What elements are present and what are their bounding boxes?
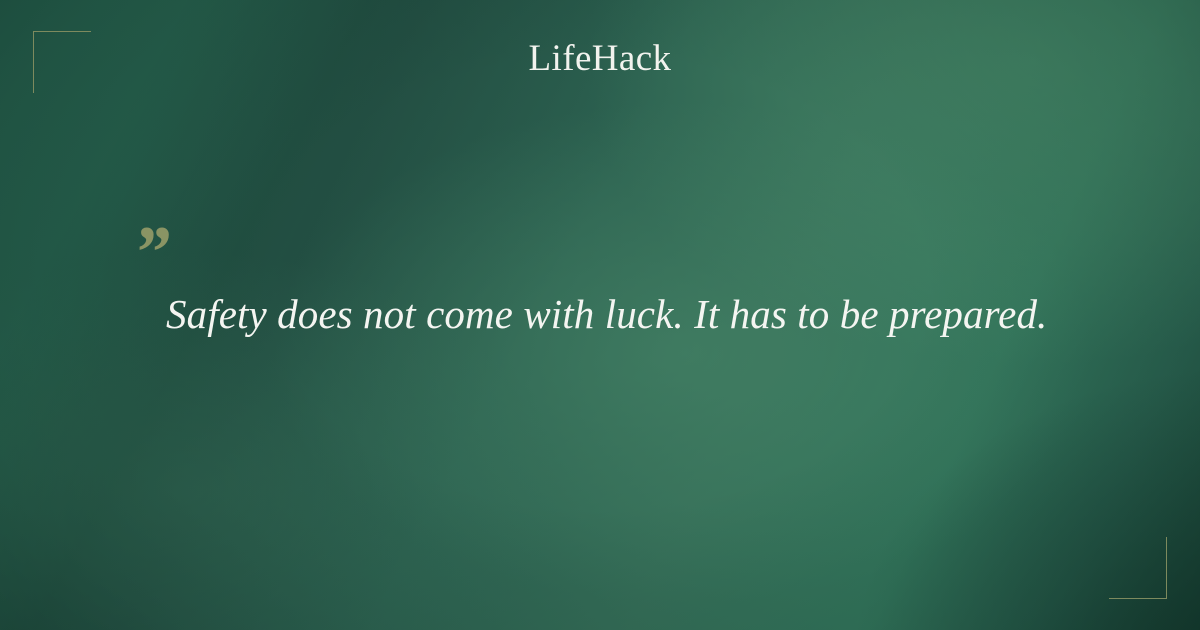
brand-logo: LifeHack bbox=[0, 0, 1200, 77]
quote-text: Safety does not come with luck. It has t… bbox=[166, 288, 1113, 340]
bracket-arm-vertical bbox=[1166, 537, 1167, 599]
corner-bracket-bottom-right-icon bbox=[1109, 537, 1167, 599]
bracket-arm-horizontal bbox=[1109, 598, 1167, 599]
quote-card: LifeHack ” Safety does not come with luc… bbox=[0, 0, 1200, 630]
quote-block: ” Safety does not come with luck. It has… bbox=[133, 216, 1113, 340]
quotation-mark-icon: ” bbox=[133, 216, 1113, 268]
brand-name: LifeHack bbox=[0, 40, 1200, 77]
